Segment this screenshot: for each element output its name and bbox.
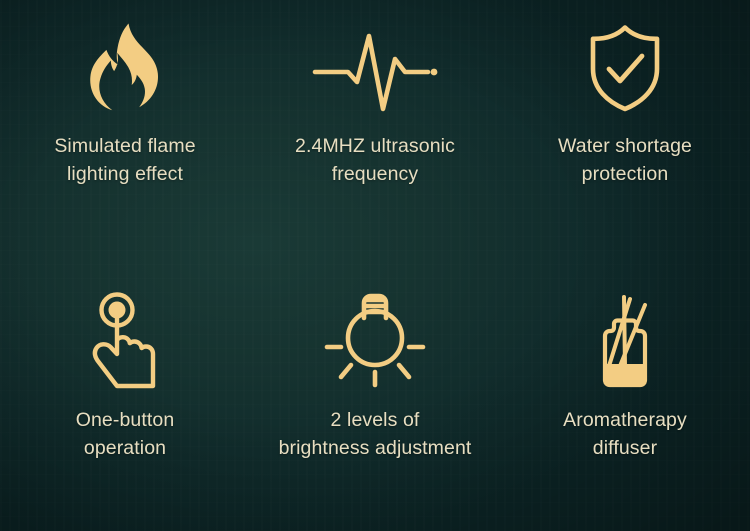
feature-label: Water shortage protection [558, 132, 692, 188]
flame-icon [87, 16, 163, 120]
light-bulb-icon [323, 288, 427, 392]
feature-grid: Simulated flame lighting effect 2.4MHZ u… [0, 0, 750, 531]
feature-label: Aromatherapy diffuser [563, 406, 687, 462]
feature-label: One-button operation [76, 406, 175, 462]
feature-label: 2 levels of brightness adjustment [279, 406, 472, 462]
pulse-wave-icon [313, 16, 437, 120]
feature-item-water-shortage-protection: Water shortage protection [500, 0, 750, 266]
product-feature-panel: Simulated flame lighting effect 2.4MHZ u… [0, 0, 750, 531]
feature-item-one-button-operation: One-button operation [0, 266, 250, 531]
shield-check-icon [586, 16, 664, 120]
feature-label: 2.4MHZ ultrasonic frequency [295, 132, 455, 188]
touch-hand-icon [79, 288, 171, 392]
feature-label: Simulated flame lighting effect [54, 132, 195, 188]
feature-item-simulated-flame: Simulated flame lighting effect [0, 0, 250, 266]
feature-item-aromatherapy-diffuser: Aromatherapy diffuser [500, 266, 750, 531]
feature-item-ultrasonic-frequency: 2.4MHZ ultrasonic frequency [250, 0, 500, 266]
reed-diffuser-icon [584, 288, 666, 392]
feature-item-brightness-levels: 2 levels of brightness adjustment [250, 266, 500, 531]
